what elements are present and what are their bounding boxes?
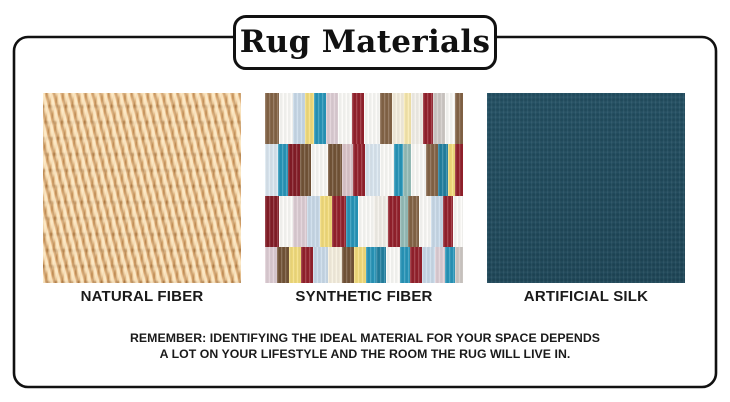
stripe	[400, 247, 410, 283]
stripe	[300, 144, 312, 195]
stripe	[455, 144, 463, 195]
stripe	[386, 247, 400, 283]
stripe	[408, 196, 420, 247]
stripe	[353, 144, 365, 195]
stripe	[455, 247, 463, 283]
stripe	[314, 93, 326, 144]
stripe	[380, 93, 392, 144]
stripe	[366, 247, 376, 283]
stripe	[388, 196, 400, 247]
stripe	[448, 144, 456, 195]
stripe	[326, 93, 338, 144]
stripe	[400, 196, 408, 247]
stripe	[426, 144, 438, 195]
stripe	[342, 144, 354, 195]
stripe	[265, 247, 277, 283]
stripe-band	[265, 93, 463, 144]
stripe	[435, 247, 445, 283]
stripe	[354, 247, 366, 283]
footer-note-line-2: A LOT ON YOUR LIFESTYLE AND THE ROOM THE…	[65, 346, 665, 362]
stripe	[332, 196, 346, 247]
stripe	[313, 247, 327, 283]
footer-note-lead: REMEMBER:	[130, 331, 206, 345]
stripe	[279, 93, 293, 144]
stripe	[320, 196, 332, 247]
stripe	[328, 144, 341, 195]
material-card-synthetic-fiber	[265, 93, 463, 283]
stripe	[364, 93, 380, 144]
stripe	[422, 247, 434, 283]
material-swatch-row	[43, 93, 685, 283]
stripe-band	[265, 144, 463, 195]
caption-artificial-silk: ARTIFICIAL SILK	[487, 288, 685, 308]
footer-note-line-1: REMEMBER: IDENTIFYING THE IDEAL MATERIAL…	[65, 330, 665, 346]
stripe	[374, 196, 388, 247]
stripe	[410, 247, 422, 283]
stripe	[403, 144, 411, 195]
stripe	[293, 196, 307, 247]
footer-note-line-1-text: IDENTIFYING THE IDEAL MATERIAL FOR YOUR …	[206, 331, 600, 345]
stripe	[411, 93, 423, 144]
stripe	[365, 144, 380, 195]
stripe-band	[265, 247, 463, 283]
stripe	[358, 196, 374, 247]
stripe	[265, 196, 279, 247]
natural-fiber-swatch	[43, 93, 241, 283]
stripe-band	[265, 196, 463, 247]
stripe	[443, 196, 453, 247]
title-badge: Rug Materials	[233, 15, 497, 70]
stripe	[279, 196, 293, 247]
stripe	[431, 196, 443, 247]
stripe	[307, 196, 321, 247]
stripe	[277, 247, 289, 283]
material-card-artificial-silk	[487, 93, 685, 283]
stripe	[376, 247, 386, 283]
rug-materials-infographic: Rug Materials NATURAL FIBER SYNTHETIC FI…	[0, 0, 730, 402]
stripe	[265, 144, 278, 195]
synthetic-fiber-swatch	[265, 93, 463, 283]
stripe	[289, 247, 301, 283]
stripe	[342, 247, 354, 283]
stripe	[380, 144, 393, 195]
stripe	[392, 93, 404, 144]
stripe	[445, 93, 455, 144]
caption-synthetic-fiber: SYNTHETIC FIBER	[265, 288, 463, 308]
page-title: Rug Materials	[240, 27, 491, 58]
stripe	[265, 93, 279, 144]
stripe	[423, 93, 433, 144]
footer-note: REMEMBER: IDENTIFYING THE IDEAL MATERIAL…	[65, 330, 665, 362]
stripe	[455, 93, 463, 144]
stripe	[311, 144, 328, 195]
stripe	[346, 196, 358, 247]
caption-natural-fiber: NATURAL FIBER	[43, 288, 241, 308]
stripe	[328, 247, 342, 283]
stripe	[404, 93, 412, 144]
stripe	[394, 144, 404, 195]
stripe	[438, 144, 448, 195]
stripe	[453, 196, 463, 247]
stripe	[288, 144, 300, 195]
stripe	[411, 144, 426, 195]
stripe	[445, 247, 455, 283]
stripe	[338, 93, 352, 144]
material-card-natural-fiber	[43, 93, 241, 283]
stripe	[433, 93, 445, 144]
artificial-silk-swatch	[487, 93, 685, 283]
stripe	[293, 93, 305, 144]
stripe	[305, 93, 315, 144]
stripe	[278, 144, 288, 195]
material-caption-row: NATURAL FIBER SYNTHETIC FIBER ARTIFICIAL…	[43, 288, 685, 308]
stripe	[419, 196, 431, 247]
stripe	[301, 247, 313, 283]
stripe	[352, 93, 364, 144]
